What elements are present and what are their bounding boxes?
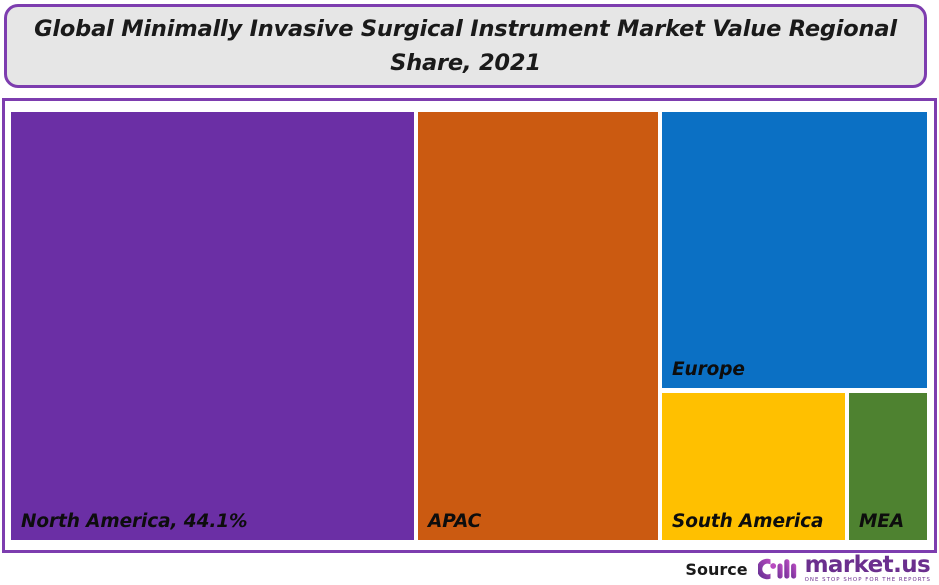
treemap-tile-europe[interactable]: Europe (662, 112, 927, 388)
treemap-tile-north-america[interactable]: North America, 44.1% (11, 112, 414, 540)
treemap-label-south-america: South America (672, 511, 823, 532)
treemap-label-north-america: North America, 44.1% (21, 511, 247, 532)
market-us-logo-text: market.us ONE STOP SHOP FOR THE REPORTS (805, 555, 931, 584)
market-us-logo-icon (758, 556, 800, 582)
treemap-chart: North America, 44.1% APAC Europe South A… (11, 112, 927, 540)
market-us-logo[interactable]: market.us ONE STOP SHOP FOR THE REPORTS (758, 555, 931, 584)
treemap-label-europe: Europe (672, 359, 745, 380)
logo-tagline: ONE STOP SHOP FOR THE REPORTS (805, 576, 931, 584)
treemap-tile-apac[interactable]: APAC (418, 112, 658, 540)
page-title: Global Minimally Invasive Surgical Instr… (33, 12, 898, 80)
treemap-tile-mea[interactable]: MEA (849, 393, 927, 540)
treemap-label-mea: MEA (859, 511, 904, 532)
source-label: Source (685, 560, 747, 579)
footer: Source market.us ONE STOP SHOP FOR THE R (0, 553, 939, 585)
logo-wordmark: market.us (805, 555, 931, 576)
treemap-label-apac: APAC (428, 511, 481, 532)
treemap-tile-south-america[interactable]: South America (662, 393, 845, 540)
chart-title-card: Global Minimally Invasive Surgical Instr… (4, 4, 927, 88)
